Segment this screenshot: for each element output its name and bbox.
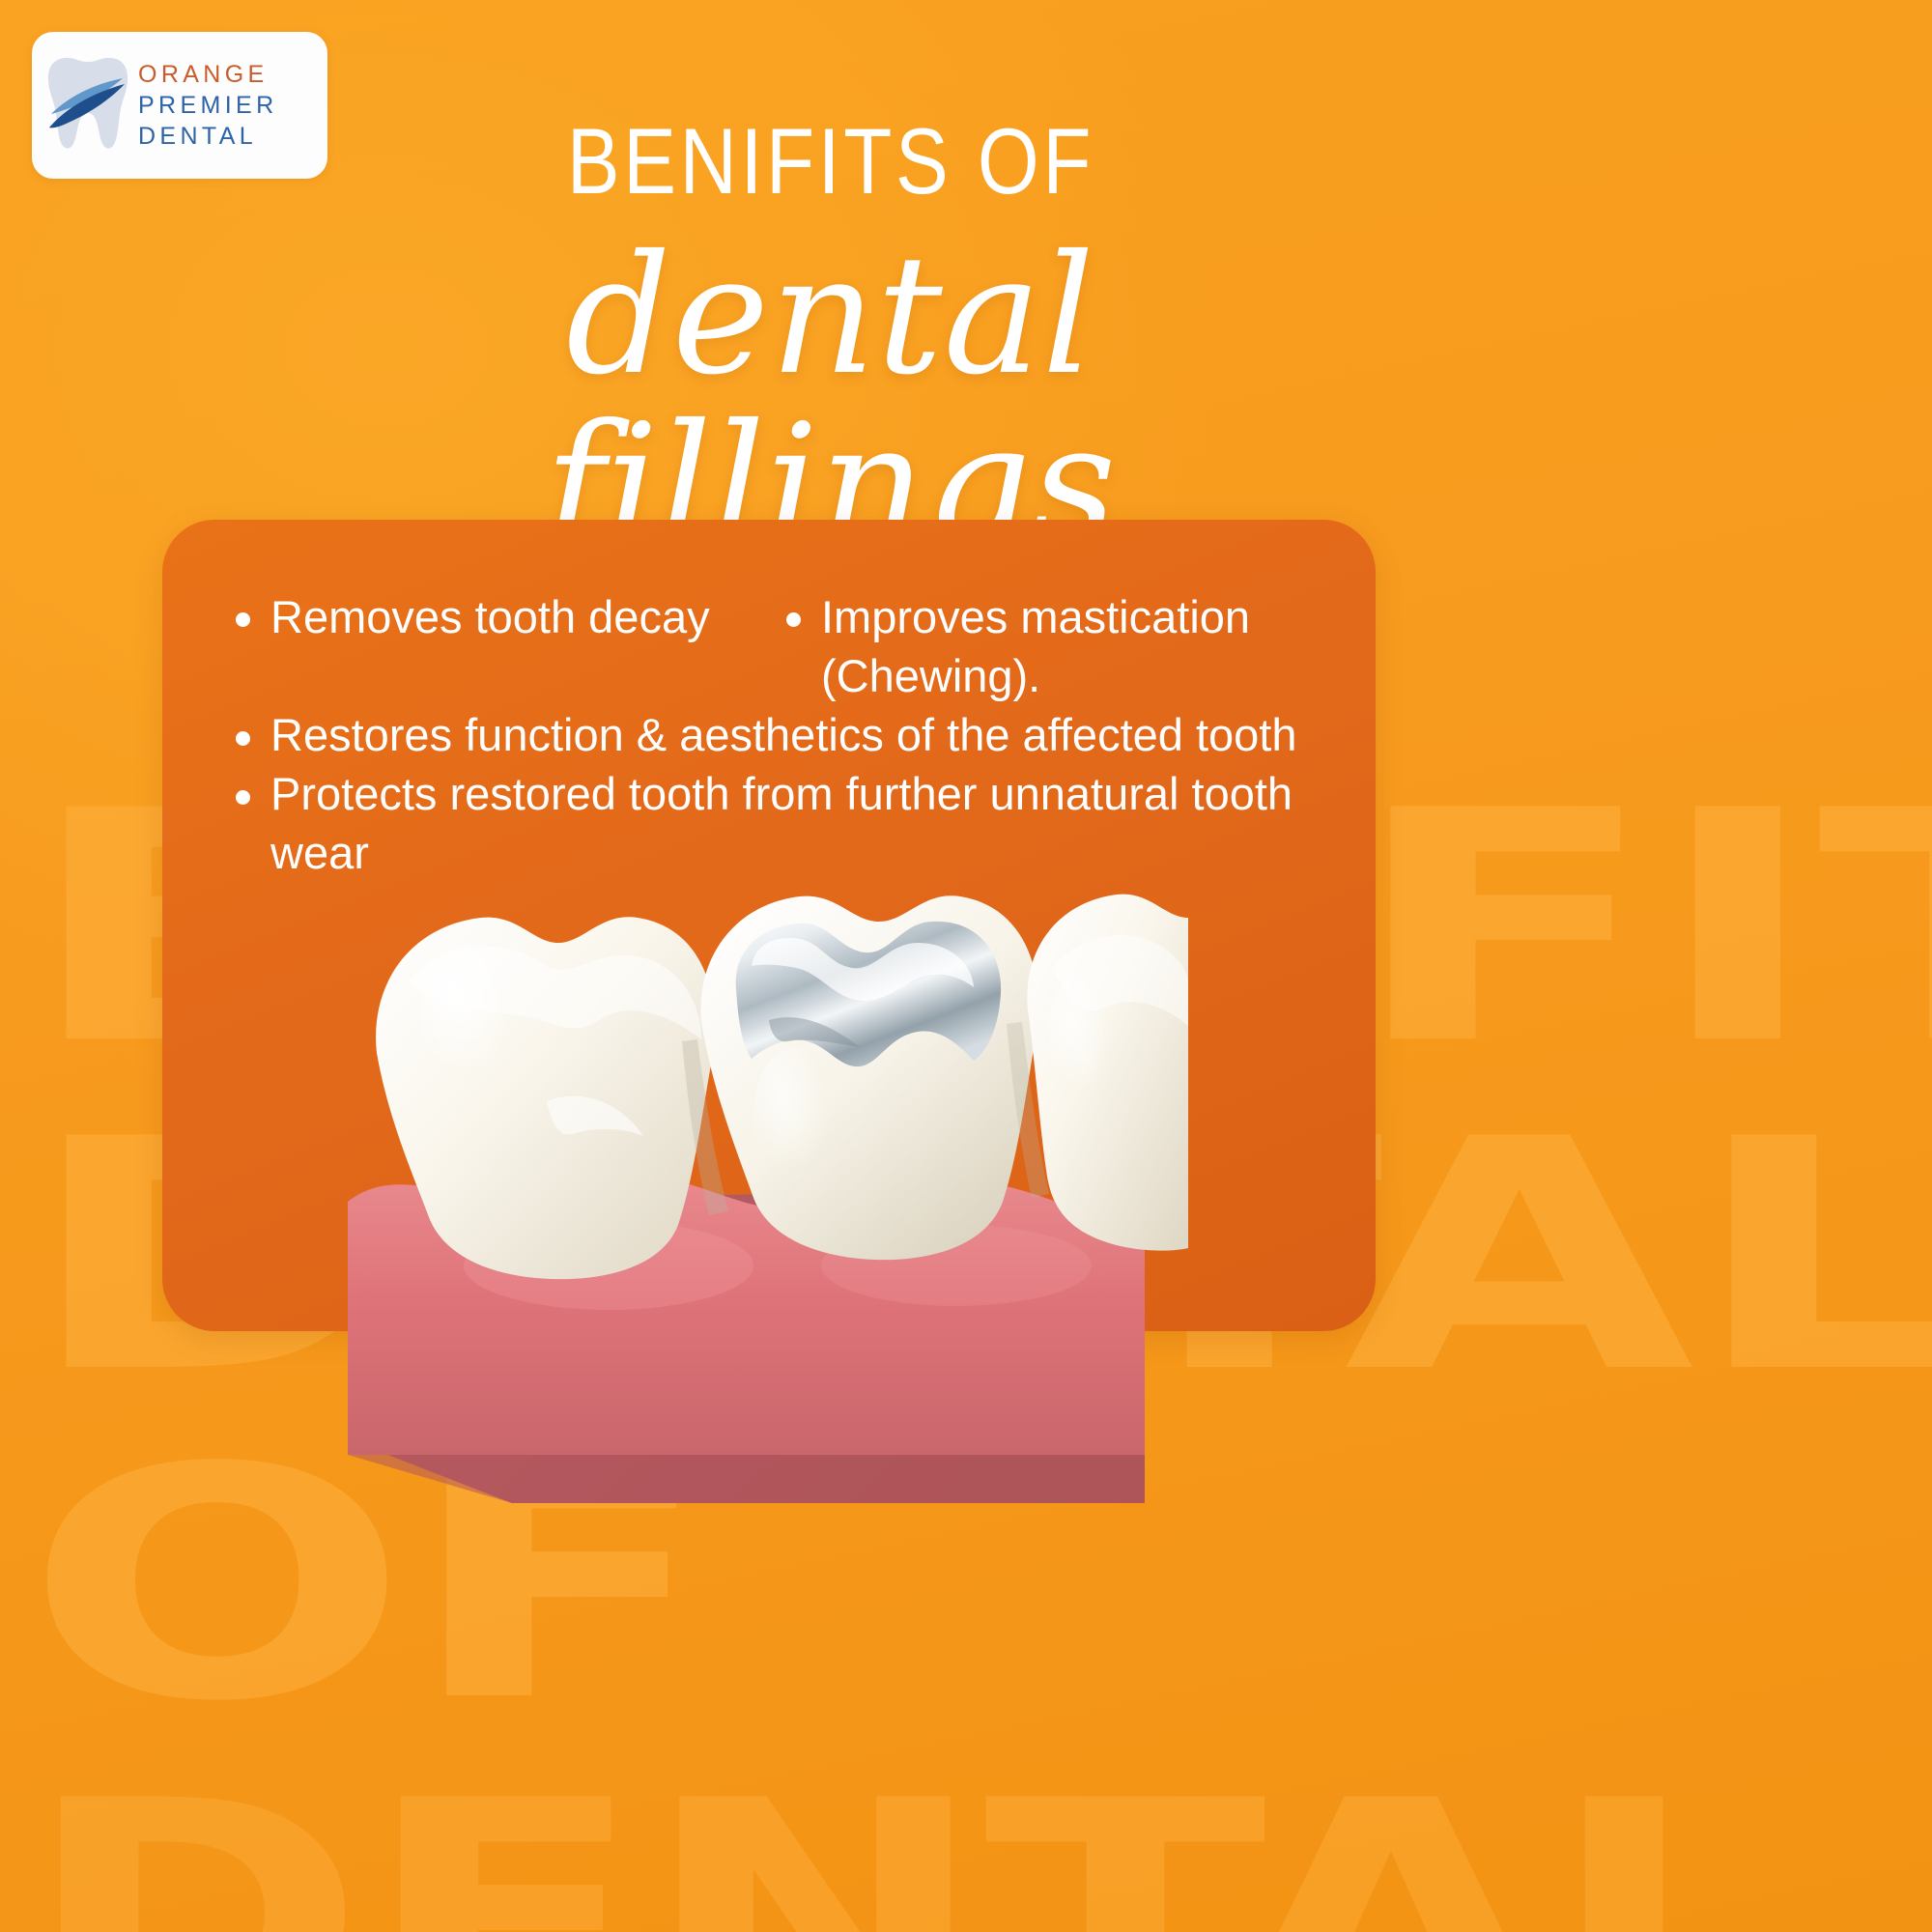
list-item: Restores function & aesthetics of the af… (218, 705, 1320, 764)
list-item: Removes tooth decay (218, 587, 769, 646)
benefits-list-left: Removes tooth decay (218, 587, 769, 646)
brand-wordmark: ORANGE PREMIER DENTAL (138, 60, 278, 151)
benefits-top-row: Removes tooth decay Improves mastication… (218, 587, 1320, 705)
benefits-list-third: Restores function & aesthetics of the af… (218, 705, 1320, 764)
tooth-swoosh-icon (43, 54, 132, 156)
benefits-col-right: Improves mastication (Chewing). (769, 587, 1320, 705)
headline-kicker: BENIFITS OF (348, 116, 1314, 210)
list-item: Improves mastication (Chewing). (769, 587, 1320, 705)
brand-line-dental: DENTAL (138, 122, 278, 151)
brand-line-premier: PREMIER (138, 91, 278, 120)
poster-canvas: BENEFITS DENTAL FILLINGS OF DENTAL FILLI… (0, 0, 1932, 1932)
watermark-line-dental-fillings-lower: DENTAL FILLINGS (0, 1782, 1932, 1932)
benefits-list-right: Improves mastication (Chewing). (769, 587, 1320, 705)
benefits-col-left: Removes tooth decay (218, 587, 769, 705)
headline-block: BENIFITS OF dental fillings (348, 116, 1314, 570)
brand-logo-card[interactable]: ORANGE PREMIER DENTAL (32, 32, 327, 179)
brand-line-orange: ORANGE (138, 60, 278, 89)
teeth-illustration (319, 811, 1188, 1507)
